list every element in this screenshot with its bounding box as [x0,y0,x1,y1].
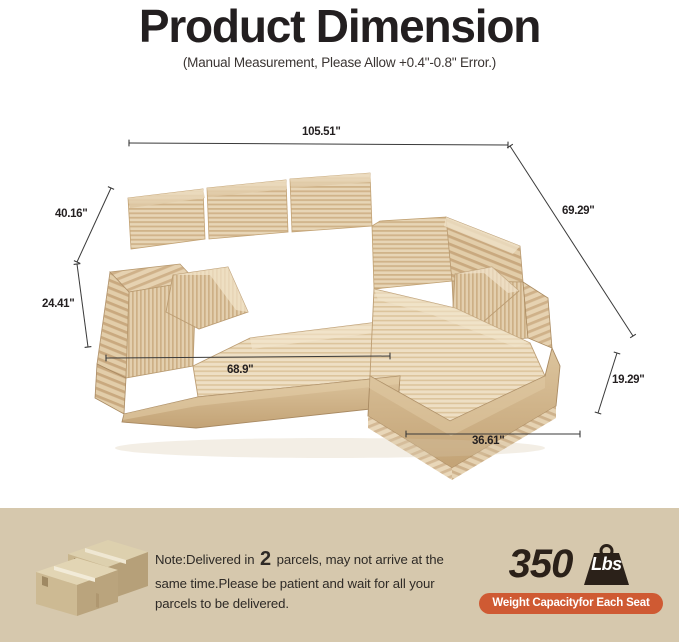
parcel-boxes-icon [30,532,152,618]
dimension-label-seat-width: 68.9" [227,364,253,376]
dimension-label-overall-depth: 69.29" [562,205,594,217]
delivery-note: Note:Delivered in 2 parcels, may not arr… [155,544,455,615]
delivery-note-prefix: Note:Delivered in [155,552,254,567]
dimension-label-overall-width: 105.51" [302,126,341,138]
page-subtitle: (Manual Measurement, Please Allow +0.4"-… [0,50,679,70]
parcel-count: 2 [258,548,273,570]
weight-capacity-row: 350 Lbs [478,541,664,587]
weight-plate-icon: Lbs [579,541,633,587]
header: Product Dimension (Manual Measurement, P… [0,0,679,70]
weight-capacity-unit: Lbs [579,554,633,575]
weight-capacity-caption: Weight Capacityfor Each Seat [479,593,662,614]
back-cushions [128,173,372,249]
delivery-info-banner: Note:Delivered in 2 parcels, may not arr… [0,508,679,642]
dimension-label-chaise-height: 19.29" [612,374,644,386]
dimension-line-arm-height [77,264,88,347]
weight-capacity-block: 350 Lbs Weight Capacityfor Each Seat [478,541,664,614]
page-title: Product Dimension [0,0,679,50]
dimension-line-back-height [77,188,111,262]
sofa-illustration [0,76,679,508]
dimension-line-overall-width [129,143,508,145]
product-dimension-diagram: 105.51" 69.29" 40.16" 24.41" 68.9" 19.29… [0,76,679,508]
dimension-label-chaise-width: 36.61" [472,435,504,447]
weight-capacity-value: 350 [509,544,573,584]
dimension-label-arm-height: 24.41" [42,298,74,310]
dimension-label-back-height: 40.16" [55,208,87,220]
